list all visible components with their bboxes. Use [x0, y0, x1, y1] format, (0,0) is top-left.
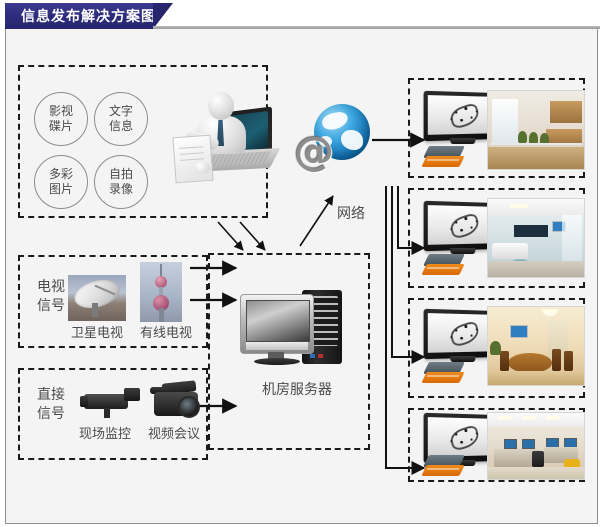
stb-front-stripe — [427, 267, 460, 269]
room-pendant-light — [542, 309, 558, 316]
source-circle-line1: 文字 — [109, 104, 133, 119]
server-led-activity — [318, 354, 323, 358]
room-window — [492, 99, 518, 143]
source-circle-line2: 信息 — [109, 119, 133, 134]
stb-chassis — [421, 465, 464, 476]
server-monitor-frame — [240, 294, 314, 354]
room-sofa — [492, 243, 528, 259]
office-floor — [488, 467, 584, 479]
server-led-power — [310, 354, 315, 358]
warm-dining-room-photo — [487, 306, 585, 386]
room-chair — [552, 349, 561, 371]
person-hand — [194, 162, 210, 174]
camera-body — [84, 394, 128, 409]
stb-chassis — [421, 372, 464, 383]
security-camera-icon — [80, 382, 142, 420]
source-circle-line1: 影视 — [49, 104, 73, 119]
satellite-tv-caption: 卫星电视 — [62, 325, 132, 342]
stb-front-stripe — [427, 375, 460, 377]
network-label: 网络 — [326, 205, 376, 224]
office-monitor — [522, 439, 535, 449]
dining-kitchen-room-photo — [487, 90, 585, 170]
room-chair — [564, 351, 573, 371]
room-ceiling — [488, 199, 584, 215]
modern-living-room-photo — [487, 198, 585, 278]
source-circle-line2: 图片 — [49, 182, 73, 197]
office-workspace-photo — [487, 412, 585, 480]
person-with-laptop-icon — [172, 88, 276, 188]
title-banner: 信息发布解决方案图 — [0, 3, 600, 29]
stb-chassis — [421, 264, 464, 275]
source-circle-colorful-images[interactable]: 多彩 图片 — [34, 155, 88, 209]
page-title: 信息发布解决方案图 — [5, 6, 156, 26]
room-plant — [490, 341, 501, 355]
set-top-box-icon — [424, 146, 466, 170]
desktop-server-icon — [240, 290, 360, 368]
dish-post — [92, 303, 98, 317]
room-floor — [488, 371, 584, 385]
diagram-root: 信息发布解决方案图 — [0, 0, 600, 527]
office-ceiling-light — [546, 416, 560, 420]
tv-tower-icon — [140, 262, 182, 322]
tv-screen — [428, 417, 495, 457]
room-chair — [500, 351, 509, 371]
office-chair — [532, 451, 544, 467]
room-dining-table — [508, 353, 552, 373]
room-wall-tv — [510, 325, 528, 338]
tv-screen — [428, 205, 495, 245]
person-head — [208, 92, 234, 120]
camera-mount — [104, 408, 110, 418]
network-group: @ — [292, 100, 372, 180]
direct-signal-label-line1: 直接 — [28, 386, 74, 405]
video-conference-caption: 视频会议 — [139, 426, 209, 443]
document-icon — [172, 135, 213, 184]
globe-landmass-south — [341, 130, 363, 150]
stb-front-stripe — [427, 159, 460, 161]
direct-signal-label: 直接 信号 — [28, 386, 74, 424]
cable-tv-caption: 有线电视 — [131, 325, 201, 342]
server-monitor-screen — [246, 300, 310, 342]
room-floor — [488, 261, 584, 277]
room-ceiling-light — [510, 204, 528, 208]
set-top-box-icon — [424, 362, 466, 386]
camera-hood — [124, 388, 140, 401]
room-wall-panel — [514, 225, 548, 237]
at-symbol-icon: @ — [292, 130, 336, 174]
office-ceiling-light — [522, 416, 536, 420]
source-circle-line1: 自拍 — [109, 167, 133, 182]
source-circle-line1: 多彩 — [49, 167, 73, 182]
room-floor — [488, 147, 584, 169]
tv-stand — [450, 138, 475, 144]
source-circle-line2: 碟片 — [49, 119, 73, 134]
room-cabinets — [550, 101, 582, 123]
direct-signal-label-line2: 信号 — [28, 405, 74, 424]
banner-shape: 信息发布解决方案图 — [5, 3, 153, 29]
server-tower-vents — [312, 296, 338, 346]
satellite-dish-icon — [68, 275, 126, 321]
site-monitoring-caption: 现场监控 — [70, 426, 140, 443]
camcorder-lens — [178, 396, 200, 418]
camera-lens — [80, 396, 88, 407]
stb-front-stripe — [427, 468, 460, 470]
room-glass-wall — [562, 215, 582, 267]
set-top-box-icon — [424, 455, 466, 479]
tv-screen — [428, 313, 495, 353]
office-monitor — [504, 439, 517, 449]
room-chairs — [518, 131, 527, 143]
camcorder-icon — [148, 378, 210, 422]
server-monitor-chin — [246, 342, 308, 350]
source-circle-selfie-video[interactable]: 自拍 录像 — [94, 155, 148, 209]
stb-chassis — [421, 156, 464, 167]
source-circle-text-info[interactable]: 文字 信息 — [94, 92, 148, 146]
set-top-box-icon — [424, 254, 466, 278]
source-circle-line2: 录像 — [109, 182, 133, 197]
tv-screen — [428, 95, 495, 135]
server-room-label: 机房服务器 — [242, 381, 352, 400]
office-ceiling-light — [498, 416, 512, 420]
source-circle-video-disc[interactable]: 影视 碟片 — [34, 92, 88, 146]
server-monitor-base — [254, 358, 300, 365]
tower-base — [159, 308, 164, 322]
